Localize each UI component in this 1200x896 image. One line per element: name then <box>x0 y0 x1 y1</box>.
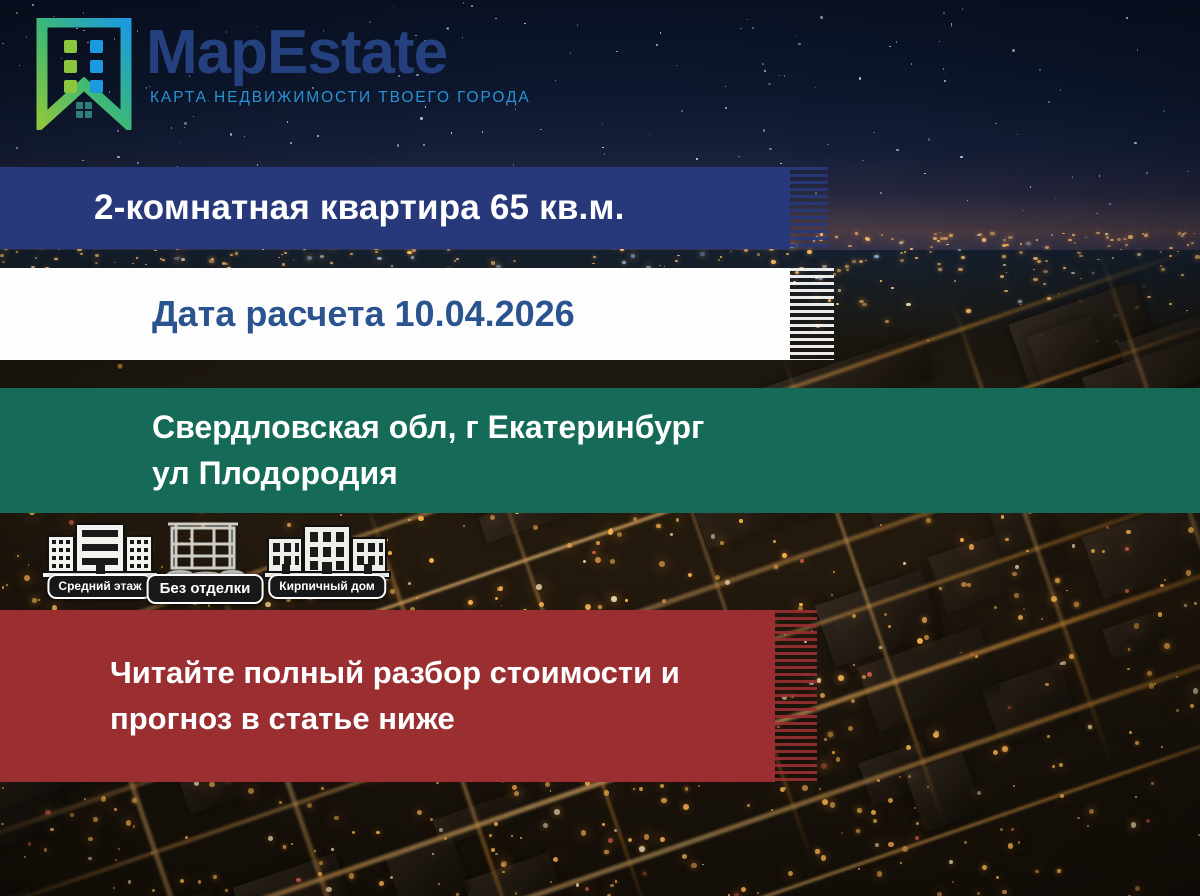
property-title-banner: 2-комнатная квартира 65 кв.м. <box>0 167 790 249</box>
feature-badge-finish: Без отделки <box>150 518 260 582</box>
promo-poster: MapEstate КАРТА НЕДВИЖИМОСТИ ТВОЕГО ГОРО… <box>0 0 1200 896</box>
property-feature-badges: Средний этаж <box>40 516 380 602</box>
brick-building-icon <box>262 516 392 582</box>
calculation-date-text: Дата расчета 10.04.2026 <box>0 293 790 335</box>
cta-banner: Читайте полный разбор стоимости и прогно… <box>0 610 775 782</box>
brand-logo[interactable]: MapEstate КАРТА НЕДВИЖИМОСТИ ТВОЕГО ГОРО… <box>36 18 531 130</box>
feature-badge-material: Кирпичный дом <box>262 516 392 582</box>
feature-badge-floor: Средний этаж <box>40 516 160 582</box>
cta-text: Читайте полный разбор стоимости и прогно… <box>0 650 775 741</box>
apartment-building-icon <box>40 516 160 582</box>
address-line-region-city: Свердловская обл, г Екатеринбург <box>0 405 1200 450</box>
feature-label-floor: Средний этаж <box>47 574 152 599</box>
bookmark-building-icon <box>36 18 132 130</box>
address-banner: Свердловская обл, г Екатеринбург ул Плод… <box>0 388 1200 513</box>
feature-label-material: Кирпичный дом <box>268 574 386 599</box>
brand-text: MapEstate КАРТА НЕДВИЖИМОСТИ ТВОЕГО ГОРО… <box>146 18 531 107</box>
address-block: Свердловская обл, г Екатеринбург ул Плод… <box>0 405 1200 496</box>
brand-wordmark: MapEstate <box>146 22 531 84</box>
brand-tagline: КАРТА НЕДВИЖИМОСТИ ТВОЕГО ГОРОДА <box>150 89 531 107</box>
bare-concrete-frame-icon <box>150 518 260 582</box>
address-line-street: ул Плодородия <box>0 451 1200 496</box>
calculation-date-banner: Дата расчета 10.04.2026 <box>0 268 790 360</box>
property-title-text: 2-комнатная квартира 65 кв.м. <box>0 188 790 228</box>
feature-label-finish: Без отделки <box>147 574 264 604</box>
